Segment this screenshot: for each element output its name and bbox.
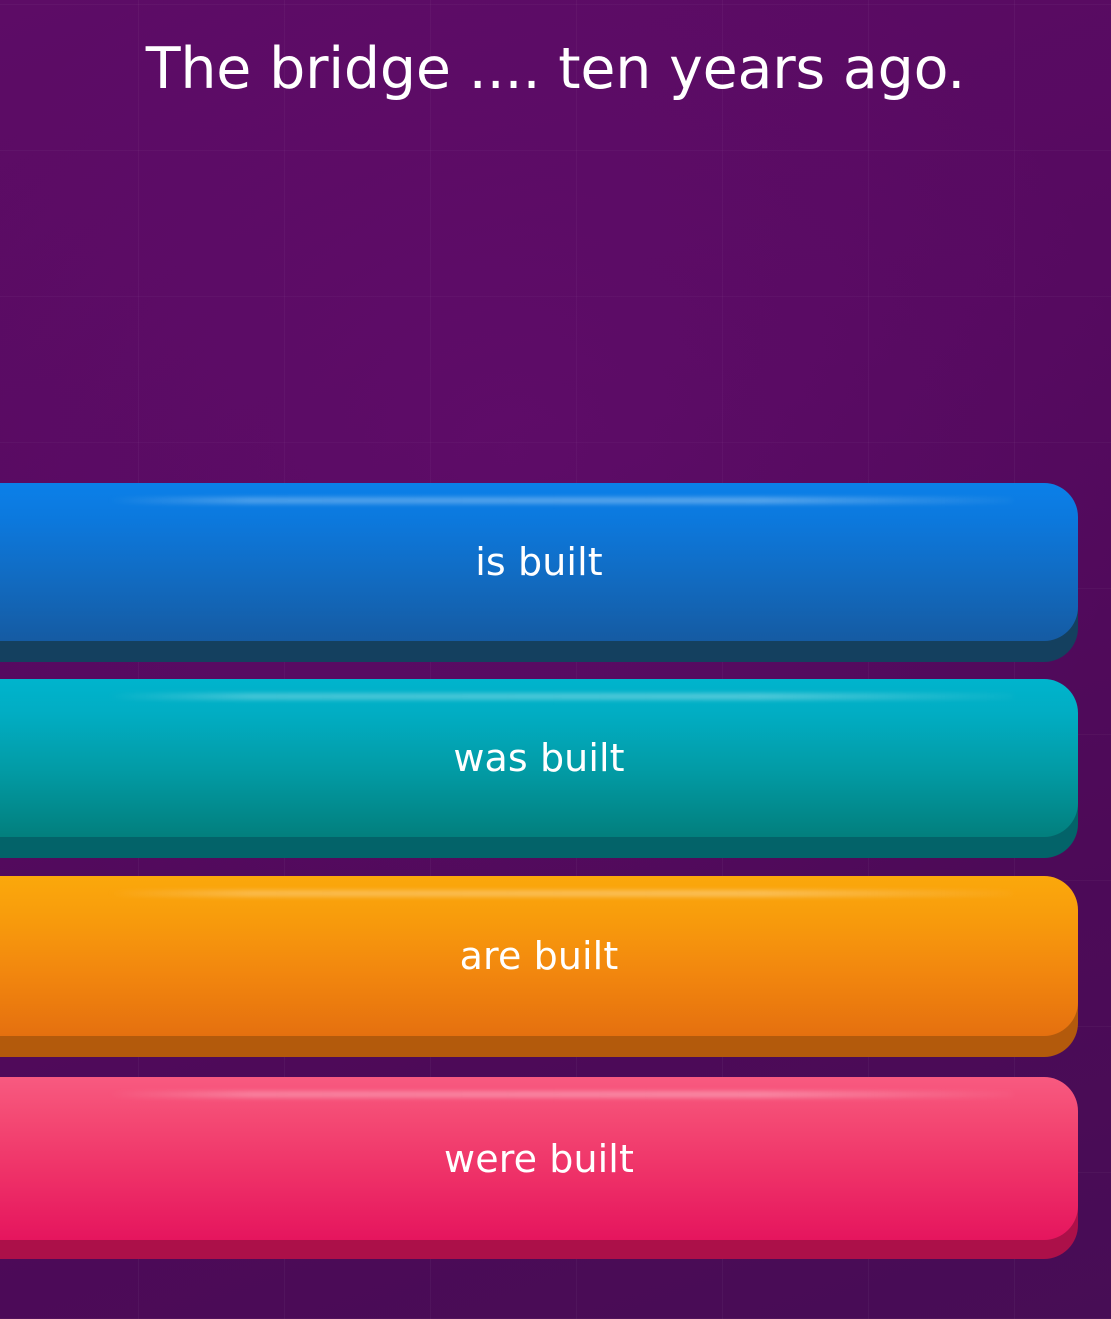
answer-option-d-label: were built — [444, 1137, 634, 1181]
answer-option-c-face: are built — [0, 876, 1078, 1036]
answer-option-d-button[interactable]: were built — [0, 1077, 1078, 1259]
answer-option-b-label: was built — [453, 736, 624, 780]
answer-option-d-gloss-highlight — [108, 1091, 1014, 1098]
answer-option-d-face: were built — [0, 1077, 1078, 1240]
answer-option-a-gloss-highlight — [108, 497, 1014, 504]
answer-option-b-face: was built — [0, 679, 1078, 837]
answer-option-b-gloss-highlight — [108, 693, 1014, 700]
question-text: The bridge .... ten years ago. — [120, 38, 991, 102]
answer-option-c-button[interactable]: are built — [0, 876, 1078, 1057]
answer-option-c-gloss-highlight — [108, 890, 1014, 897]
answer-option-a-button[interactable]: is built — [0, 483, 1078, 662]
answer-option-c-label: are built — [460, 934, 619, 978]
answer-option-b-button[interactable]: was built — [0, 679, 1078, 858]
question-container: The bridge .... ten years ago. — [0, 0, 1111, 140]
answer-option-a-face: is built — [0, 483, 1078, 641]
quiz-screen: The bridge .... ten years ago. is built … — [0, 0, 1111, 1319]
answer-option-a-label: is built — [475, 540, 602, 584]
